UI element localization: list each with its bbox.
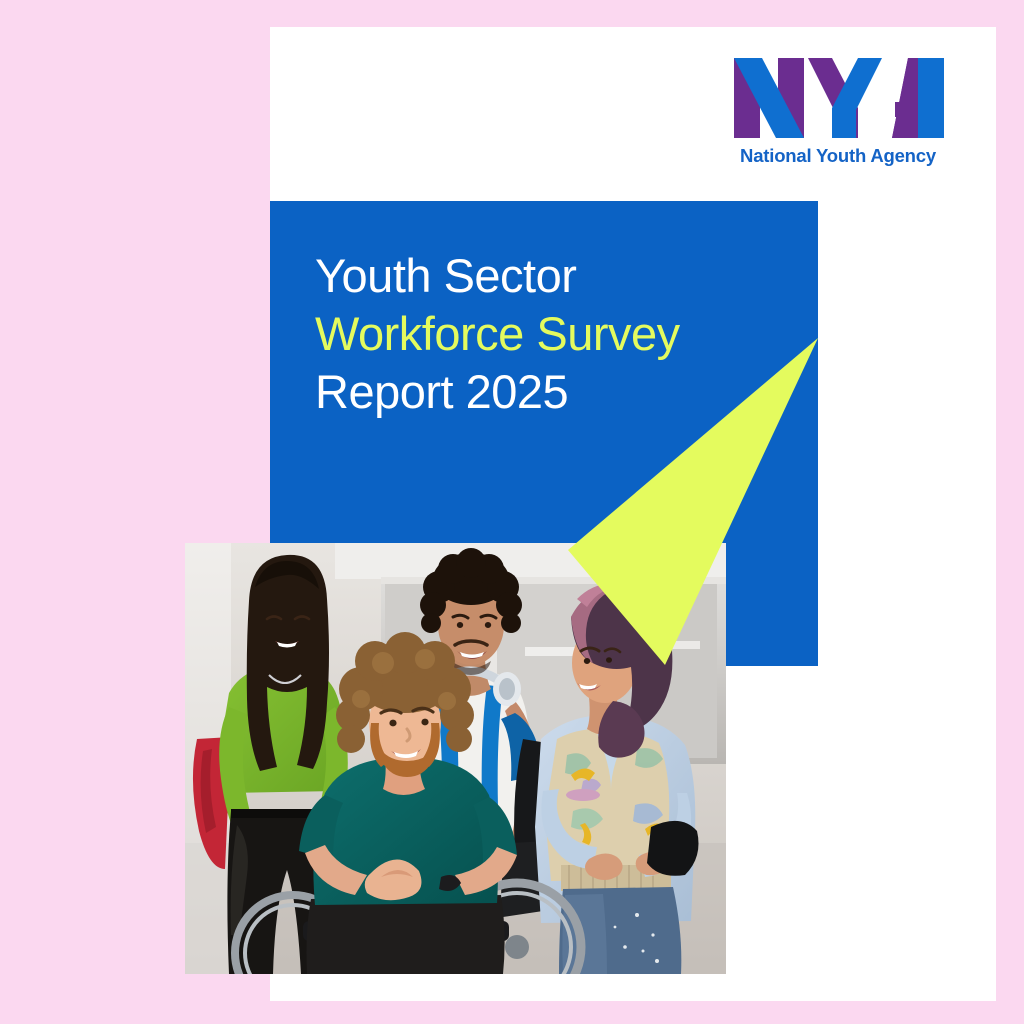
- title-line-1: Youth Sector: [315, 247, 785, 305]
- title-line-2: Workforce Survey: [315, 305, 785, 363]
- cover-title: Youth Sector Workforce Survey Report 202…: [315, 247, 785, 421]
- photo-illustration: [185, 543, 726, 974]
- title-line-3: Report 2025: [315, 363, 785, 421]
- logo-wordmark: National Youth Agency: [732, 145, 944, 167]
- cover-canvas: National Youth Agency Youth Sector Workf…: [0, 0, 1024, 1024]
- nya-logo: National Youth Agency: [732, 52, 944, 174]
- cover-photograph: [185, 543, 726, 974]
- nya-monogram-icon: [732, 52, 944, 142]
